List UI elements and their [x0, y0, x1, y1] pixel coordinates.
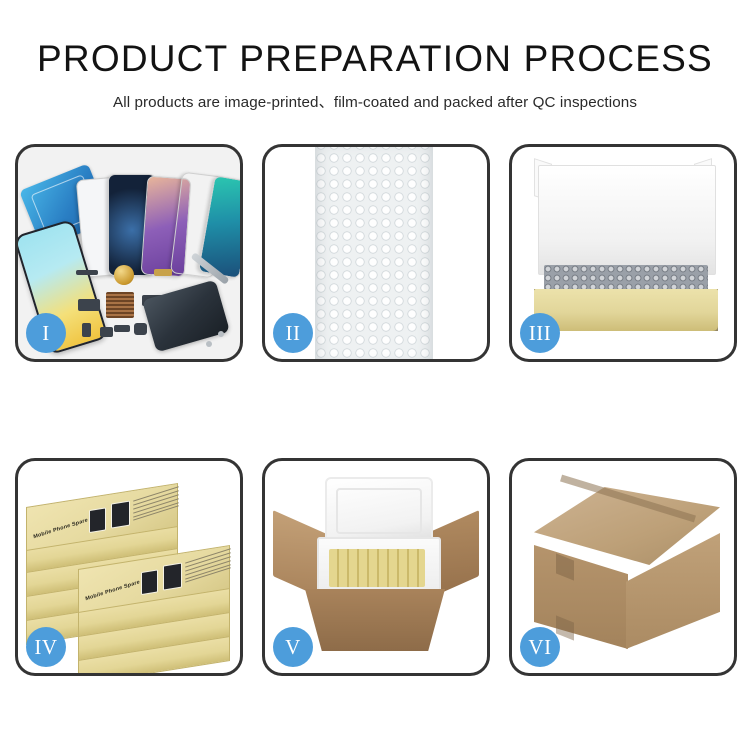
step-panel-4: Mobile Phone Spare Parts Mobile Phone Sp… — [15, 458, 243, 676]
step-panel-3: III — [509, 144, 737, 362]
box-text-lines — [133, 490, 179, 521]
step-panel-5: V — [262, 458, 490, 676]
product-preparation-process-page: PRODUCT PREPARATION PROCESS All products… — [0, 0, 750, 750]
box-text-lines — [185, 552, 231, 583]
step-badge-2: II — [273, 313, 313, 353]
foam-cooler-lid-icon — [325, 477, 433, 545]
screw-icon — [218, 331, 224, 337]
page-subtitle: All products are image-printed、film-coat… — [0, 90, 750, 112]
flex-cable-icon — [78, 299, 100, 311]
screw-icon — [206, 341, 212, 347]
box-phone-image — [141, 569, 158, 595]
small-part-icon — [82, 323, 91, 337]
process-steps-grid: I II — [15, 144, 737, 676]
kraft-box-tray-icon — [534, 289, 718, 331]
step-badge-1: I — [26, 313, 66, 353]
small-part-icon — [100, 327, 113, 337]
chip-grid-part-icon — [106, 292, 134, 318]
box-phone-image — [111, 501, 130, 529]
step-badge-4: IV — [26, 627, 66, 667]
step-badge-6: VI — [520, 627, 560, 667]
bubble-wrap-bag-icon — [315, 147, 433, 359]
coil-part-icon — [114, 265, 134, 285]
page-header: PRODUCT PREPARATION PROCESS All products… — [0, 0, 750, 112]
box-phone-image — [89, 507, 106, 533]
white-box-lid-icon — [538, 165, 716, 275]
step-badge-5: V — [273, 627, 313, 667]
box-phone-image — [163, 563, 182, 591]
small-part-icon — [76, 270, 98, 275]
small-part-icon — [114, 325, 130, 332]
step-panel-1: I — [15, 144, 243, 362]
phone-chassis-icon — [142, 280, 230, 353]
carton-body-icon — [305, 589, 445, 651]
camera-part-icon — [134, 323, 147, 335]
gold-connector-icon — [154, 269, 172, 276]
step-badge-3: III — [520, 313, 560, 353]
phone-fan-group — [78, 161, 240, 276]
step-panel-6: VI — [509, 458, 737, 676]
page-title: PRODUCT PREPARATION PROCESS — [0, 40, 750, 79]
packed-yellow-boxes-icon — [329, 549, 425, 587]
step-panel-2: II — [262, 144, 490, 362]
